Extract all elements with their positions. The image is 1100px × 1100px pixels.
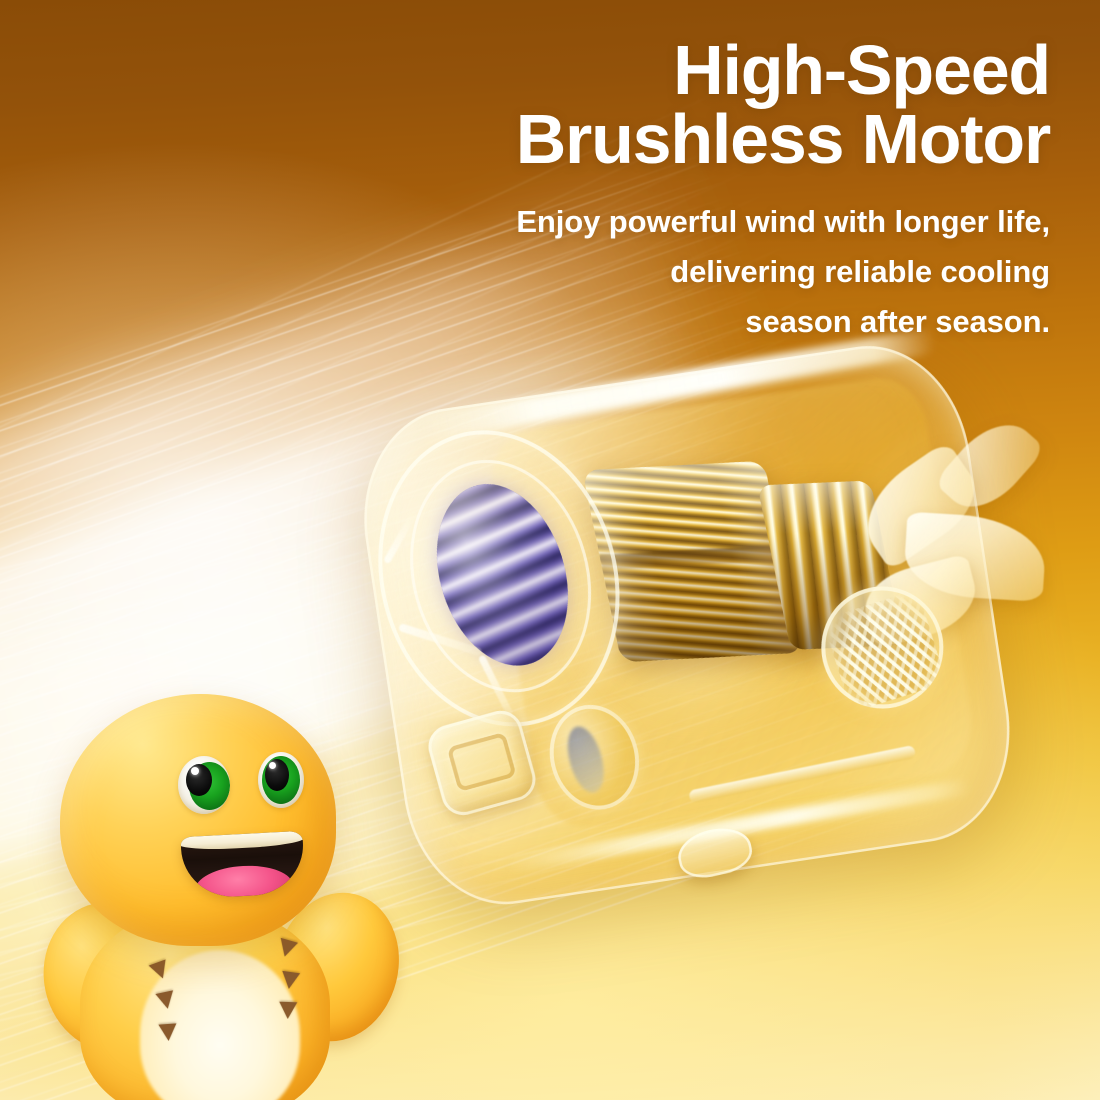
mascot-claw: [279, 1002, 298, 1020]
mascot-left-eye: [178, 756, 230, 814]
subheadline-line-1: Enjoy powerful wind with longer life,: [290, 197, 1050, 247]
mascot-right-eye: [258, 752, 304, 808]
subheadline: Enjoy powerful wind with longer life, de…: [290, 197, 1050, 348]
headline-line-1: High-Speed: [290, 36, 1050, 105]
mascot-tongue: [194, 863, 294, 899]
mascot-head: [60, 694, 336, 946]
yellow-creature-mascot: [38, 690, 398, 1100]
mascot-claw: [280, 971, 300, 990]
mascot-claw: [158, 1023, 177, 1041]
headline-line-2: Brushless Motor: [290, 105, 1050, 174]
mascot-eye-glint: [269, 762, 276, 769]
subheadline-line-2: delivering reliable cooling: [290, 247, 1050, 297]
copy-block: High-Speed Brushless Motor Enjoy powerfu…: [290, 36, 1050, 347]
transparent-motor-module: [327, 306, 1063, 957]
mascot-eye-glint: [191, 767, 199, 775]
mascot-upper-teeth: [180, 831, 305, 851]
product-banner: High-Speed Brushless Motor Enjoy powerfu…: [0, 0, 1100, 1100]
mascot-pupil: [186, 764, 212, 796]
subheadline-line-3: season after season.: [290, 297, 1050, 347]
mascot-mouth: [180, 831, 305, 899]
headline: High-Speed Brushless Motor: [290, 36, 1050, 175]
